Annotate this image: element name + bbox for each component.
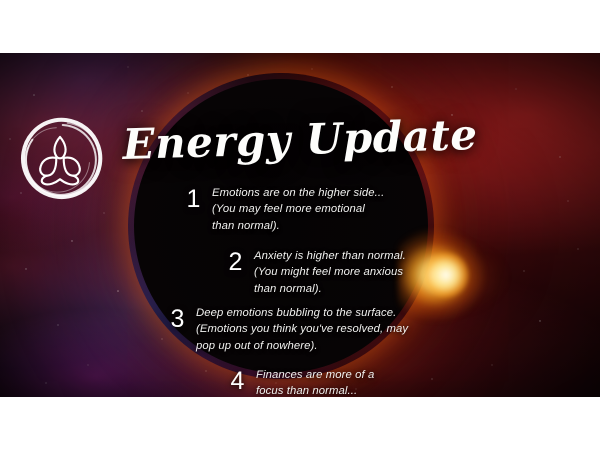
list-item-text: Deep emotions bubbling to the surface. (… bbox=[196, 305, 408, 354]
list-item: 3 Deep emotions bubbling to the surface.… bbox=[170, 305, 408, 354]
list-item: 4 Finances are more of a focus than norm… bbox=[230, 367, 374, 397]
list-item-number: 1 bbox=[186, 185, 201, 212]
list-item-text: Emotions are on the higher side... (You … bbox=[212, 185, 384, 234]
list-item-number: 4 bbox=[230, 367, 245, 394]
list-item-line: than normal). bbox=[212, 218, 384, 234]
list-item-line: (You might feel more anxious bbox=[254, 264, 406, 280]
energy-update-list: 1 Emotions are on the higher side... (Yo… bbox=[0, 179, 600, 397]
list-item-line: than normal). bbox=[254, 281, 406, 297]
list-item-line: focus than normal... bbox=[256, 383, 374, 397]
eclipse-poster-image: Energy Update 1 Emotions are on the high… bbox=[0, 53, 600, 397]
list-item-text: Finances are more of a focus than normal… bbox=[256, 367, 374, 397]
list-item-line: pop up out of nowhere). bbox=[196, 338, 408, 354]
list-item-number: 3 bbox=[170, 305, 185, 332]
list-item-line: (Emotions you think you've resolved, may bbox=[196, 321, 408, 337]
list-item: 2 Anxiety is higher than normal. (You mi… bbox=[228, 248, 406, 297]
list-item-number: 2 bbox=[228, 248, 243, 275]
poster-canvas: Energy Update 1 Emotions are on the high… bbox=[0, 0, 600, 450]
list-item-text: Anxiety is higher than normal. (You migh… bbox=[254, 248, 406, 297]
list-item-line: Anxiety is higher than normal. bbox=[254, 248, 406, 264]
list-item-line: Deep emotions bubbling to the surface. bbox=[196, 305, 408, 321]
list-item: 1 Emotions are on the higher side... (Yo… bbox=[186, 185, 384, 234]
list-item-line: (You may feel more emotional bbox=[212, 201, 384, 217]
list-item-line: Finances are more of a bbox=[256, 367, 374, 383]
list-item-line: Emotions are on the higher side... bbox=[212, 185, 384, 201]
